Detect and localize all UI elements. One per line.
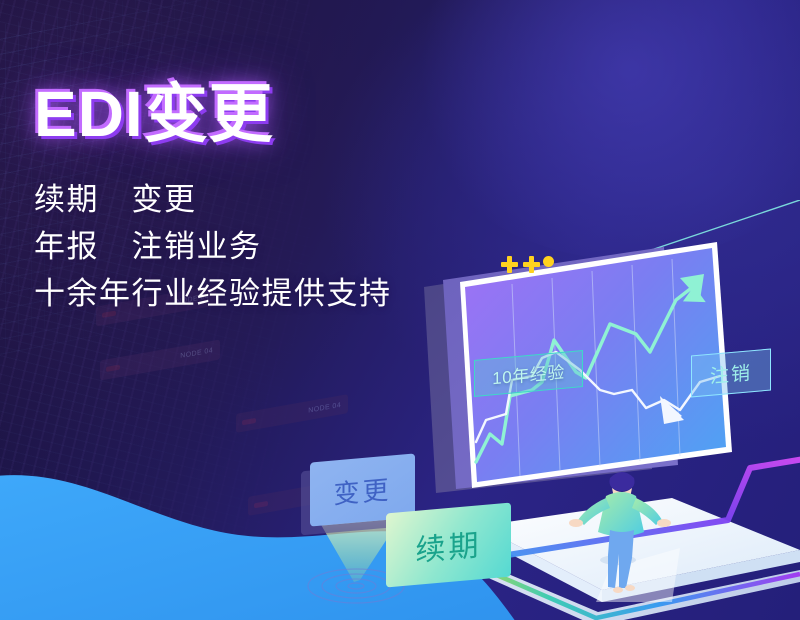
illustration-svg xyxy=(280,230,800,620)
server-rack-chip: NODE 04 xyxy=(100,339,220,380)
chip-code: NODE 04 xyxy=(180,347,213,360)
chip-led xyxy=(242,417,256,424)
dot-icon xyxy=(543,256,554,267)
plus-icon xyxy=(501,256,518,273)
page-title: EDI变更 xyxy=(34,82,504,146)
label-cancel: 注销 xyxy=(691,349,771,398)
person-hair xyxy=(610,472,635,491)
subtitle-line-1: 续期 变更 xyxy=(34,176,504,223)
illustration: 10年经验 注销 变更 续期 xyxy=(280,230,800,620)
chip-led xyxy=(254,500,268,507)
promo-banner: NODE 04 NODE 04 NODE 04 NODE 04 EDI变更 续期… xyxy=(0,0,800,620)
person-hand-right xyxy=(657,519,671,527)
chip-led xyxy=(106,365,120,372)
renewal-card: 续期 xyxy=(386,503,511,588)
plus-icon xyxy=(523,256,540,273)
person-hand-left xyxy=(569,519,583,527)
person-foot-left xyxy=(613,587,623,593)
person-foot-right xyxy=(625,585,635,591)
